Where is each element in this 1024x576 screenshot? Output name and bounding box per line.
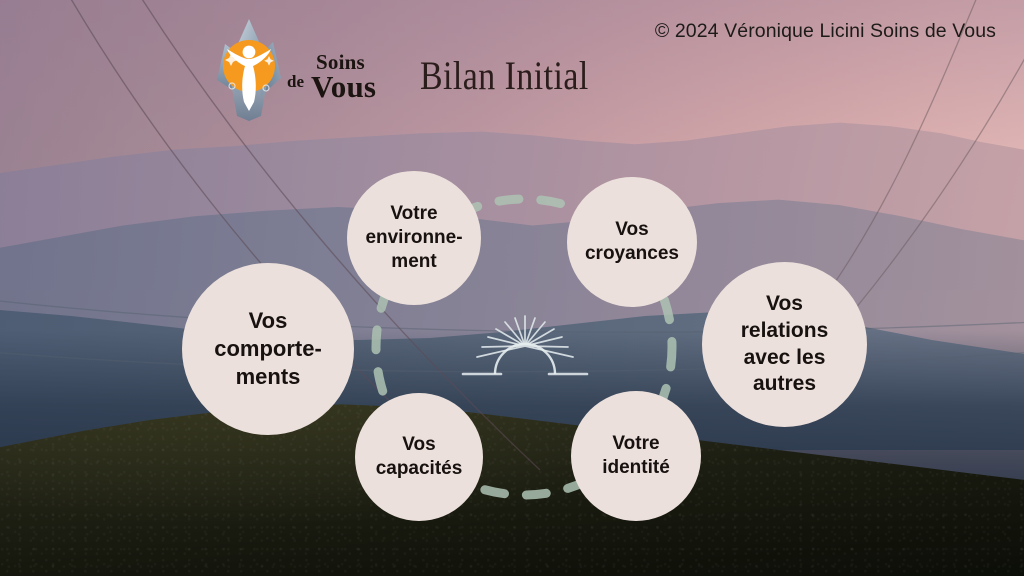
- bubble-croyances[interactable]: Voscroyances: [567, 177, 697, 307]
- bubble-identite-label: Votreidentité: [596, 432, 676, 481]
- bubble-environnement[interactable]: Votreenvironne-ment: [347, 171, 481, 305]
- bubble-relations-label: Vosrelationsavec lesautres: [735, 291, 835, 399]
- sunburst-icon: [455, 312, 595, 394]
- bubble-relations[interactable]: Vosrelationsavec lesautres: [702, 262, 867, 427]
- bubble-identite[interactable]: Votreidentité: [571, 391, 701, 521]
- slide-canvas: © 2024 Véronique Licini Soins de Vous: [0, 0, 1024, 576]
- bubble-capacites[interactable]: Voscapacités: [355, 393, 483, 521]
- bubble-croyances-label: Voscroyances: [579, 218, 685, 267]
- bubble-capacites-label: Voscapacités: [370, 433, 469, 482]
- bubble-comportements-label: Voscomporte-ments: [208, 307, 328, 391]
- bubble-comportements[interactable]: Voscomporte-ments: [182, 263, 354, 435]
- bilan-initial-diagram: Voscomporte-ments Votreenvironne-ment Vo…: [0, 0, 1024, 576]
- dashed-connector-ellipse: [0, 0, 1024, 576]
- bubble-environnement-label: Votreenvironne-ment: [359, 202, 468, 275]
